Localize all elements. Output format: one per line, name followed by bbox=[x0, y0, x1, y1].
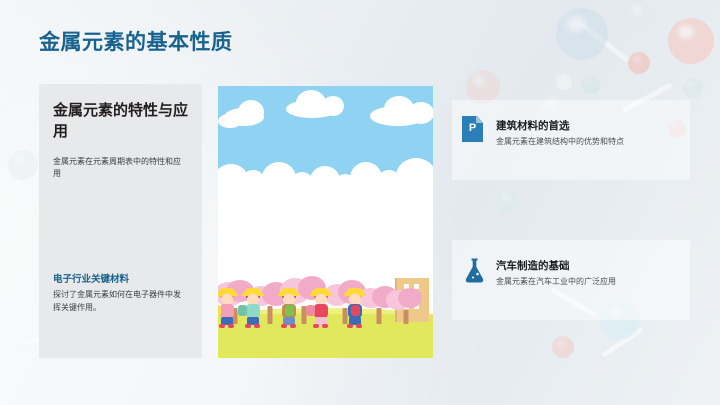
document-icon-letter: P bbox=[462, 122, 483, 134]
card-heading: 汽车制造的基础 bbox=[496, 258, 570, 273]
left-info-panel: 金属元素的特性与应用 金属元素在元素周期表中的特性和应用 电子行业关键材料 探讨… bbox=[39, 84, 202, 358]
child-figure bbox=[218, 288, 238, 328]
card-construction-material[interactable]: P 建筑材料的首选 金属元素在建筑结构中的优势和特点 bbox=[452, 100, 690, 180]
card-heading: 建筑材料的首选 bbox=[496, 118, 570, 133]
child-figure bbox=[344, 288, 366, 328]
flask-icon bbox=[462, 256, 486, 284]
left-panel-heading: 金属元素的特性与应用 bbox=[53, 101, 193, 142]
card-body: 金属元素在建筑结构中的优势和特点 bbox=[496, 136, 682, 148]
left-panel-subtext: 金属元素在元素周期表中的特性和应用 bbox=[53, 156, 188, 181]
document-p-icon: P bbox=[462, 116, 486, 144]
child-figure bbox=[242, 288, 264, 328]
card-automotive-manufacturing[interactable]: 汽车制造的基础 金属元素在汽车工业中的广泛应用 bbox=[452, 240, 690, 320]
left-panel-section-body: 探讨了金属元素如何在电子器件中发挥关键作用。 bbox=[53, 289, 188, 315]
card-body: 金属元素在汽车工业中的广泛应用 bbox=[496, 276, 682, 288]
child-figure bbox=[310, 288, 332, 328]
child-figure bbox=[278, 288, 300, 328]
left-panel-section-heading: 电子行业关键材料 bbox=[53, 274, 198, 287]
center-illustration bbox=[218, 86, 433, 358]
page-title: 金属元素的基本性质 bbox=[39, 26, 233, 56]
cherry-tree bbox=[386, 286, 426, 324]
flask-icon-svg bbox=[463, 257, 487, 283]
slide-canvas: 金属元素的基本性质 金属元素的特性与应用 金属元素在元素周期表中的特性和应用 电… bbox=[0, 0, 720, 405]
